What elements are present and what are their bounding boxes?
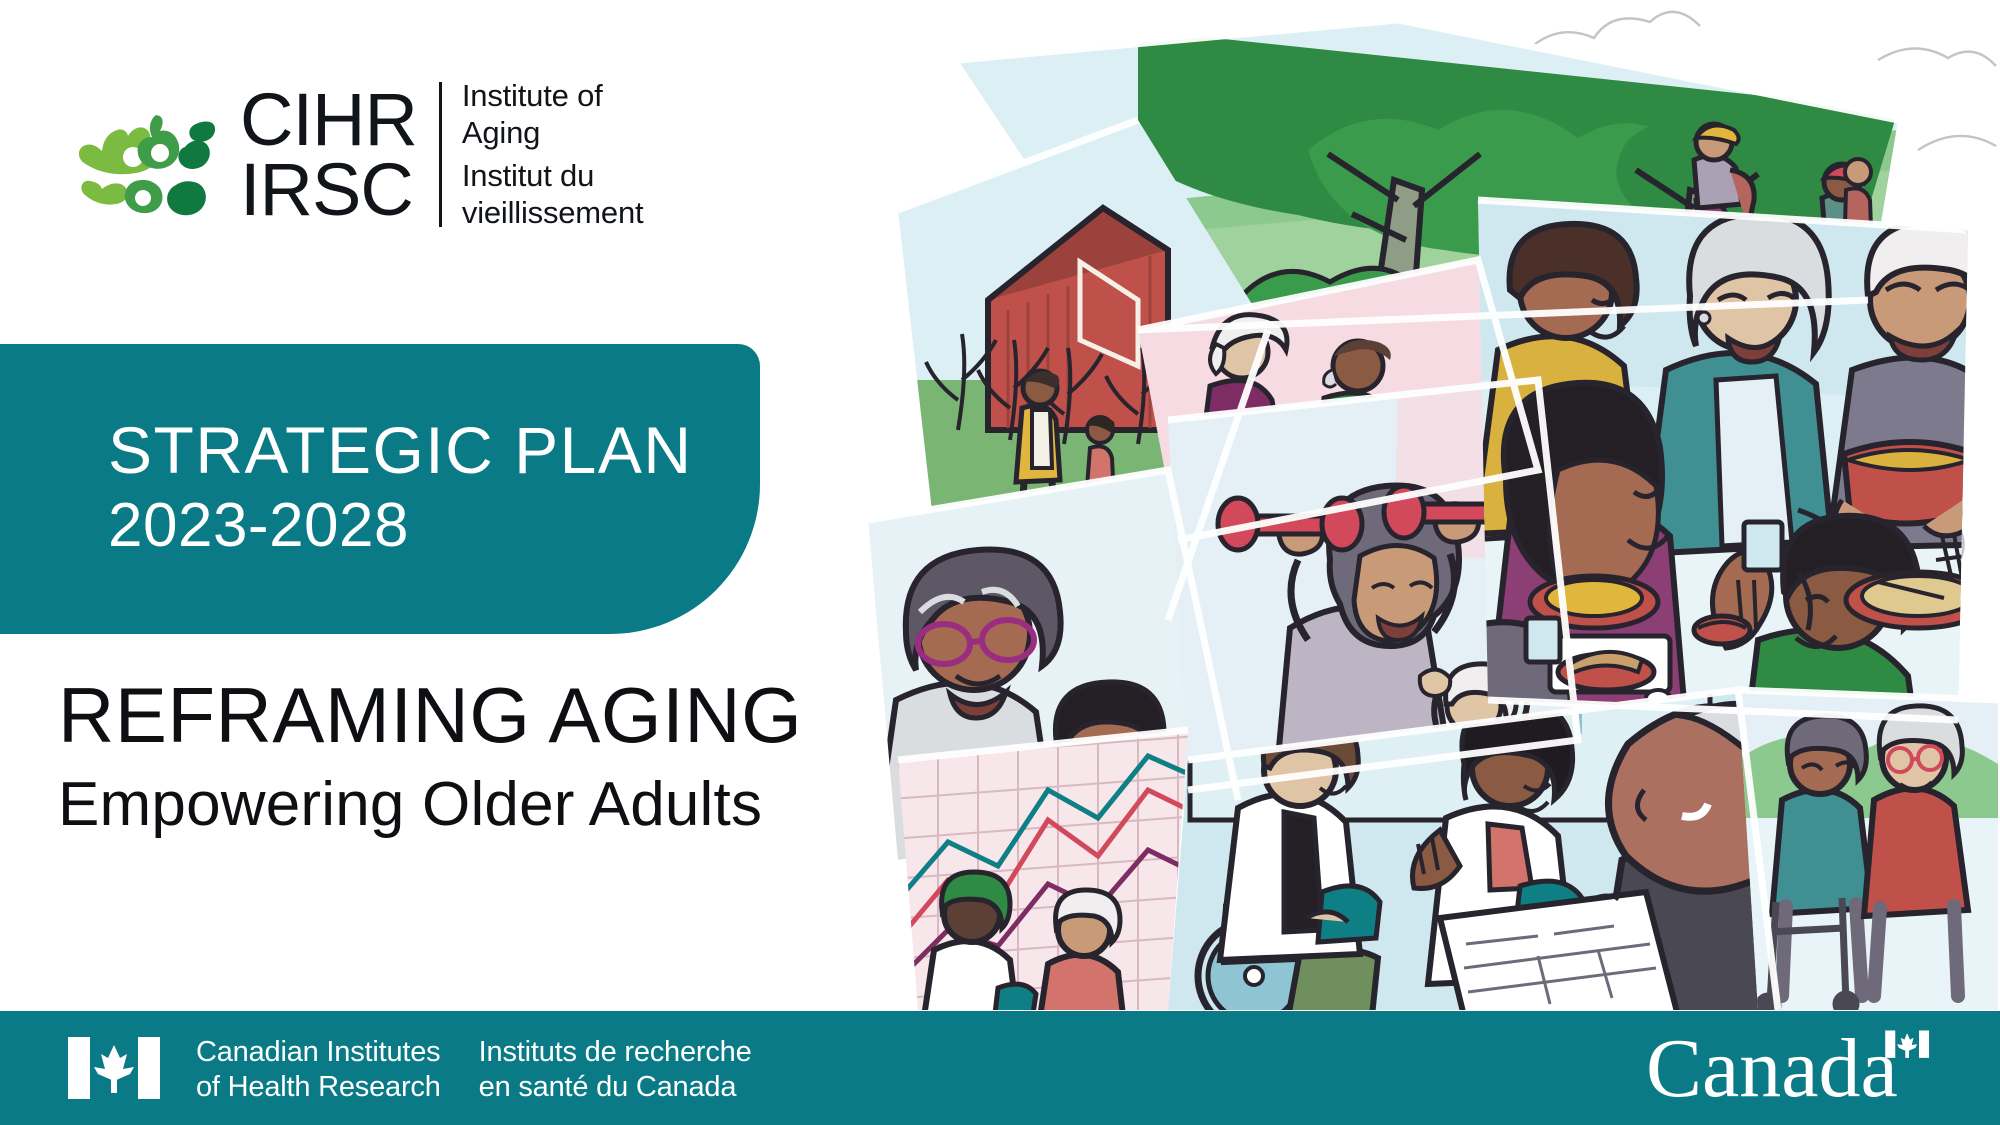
logo-institute-line1: Institute of: [462, 78, 644, 115]
page-title-group: REFRAMING AGING Empowering Older Adults: [58, 676, 802, 836]
canada-wordmark: Canada: [1646, 1025, 1938, 1109]
logo-institut-line2: vieillissement: [462, 195, 644, 232]
logo-divider-rule: [439, 82, 442, 227]
logo-acronym-fr: IRSC: [240, 155, 417, 225]
cihr-logo: CIHR IRSC Institute of Aging Institut du…: [72, 78, 643, 231]
footer-fr-line1: Instituts de recherche: [479, 1035, 752, 1070]
government-footer-bar: Canadian Institutes of Health Research I…: [0, 1011, 2000, 1125]
cihr-acronyms: CIHR IRSC: [240, 85, 417, 224]
cihr-footer-wordmark: Canadian Institutes of Health Research I…: [196, 1035, 752, 1105]
logo-institut-line1: Institut du: [462, 158, 644, 195]
wordmark-flag-icon: [1885, 1030, 1929, 1057]
collage-illustration-svg: [838, 0, 2000, 1015]
page-subtitle: Empowering Older Adults: [58, 774, 802, 836]
strategic-plan-banner: STRATEGIC PLAN 2023-2028: [0, 344, 760, 634]
canada-flag-symbol: [68, 1037, 160, 1099]
banner-line-1: STRATEGIC PLAN: [108, 416, 760, 486]
poster-page: CIHR IRSC Institute of Aging Institut du…: [0, 0, 2000, 1125]
banner-line-2: 2023-2028: [108, 490, 760, 561]
footer-en-line2: of Health Research: [196, 1070, 441, 1105]
canada-wordmark-text: Canada: [1646, 1025, 1898, 1109]
cihr-maple-leaf-people-logo: [72, 85, 232, 225]
collage-illustration: [838, 0, 2000, 1015]
footer-fr-line2: en santé du Canada: [479, 1070, 752, 1105]
footer-en-line1: Canadian Institutes: [196, 1035, 441, 1070]
logo-acronym-en: CIHR: [240, 85, 417, 155]
logo-institute-line2: Aging: [462, 115, 644, 152]
page-title: REFRAMING AGING: [58, 676, 802, 754]
